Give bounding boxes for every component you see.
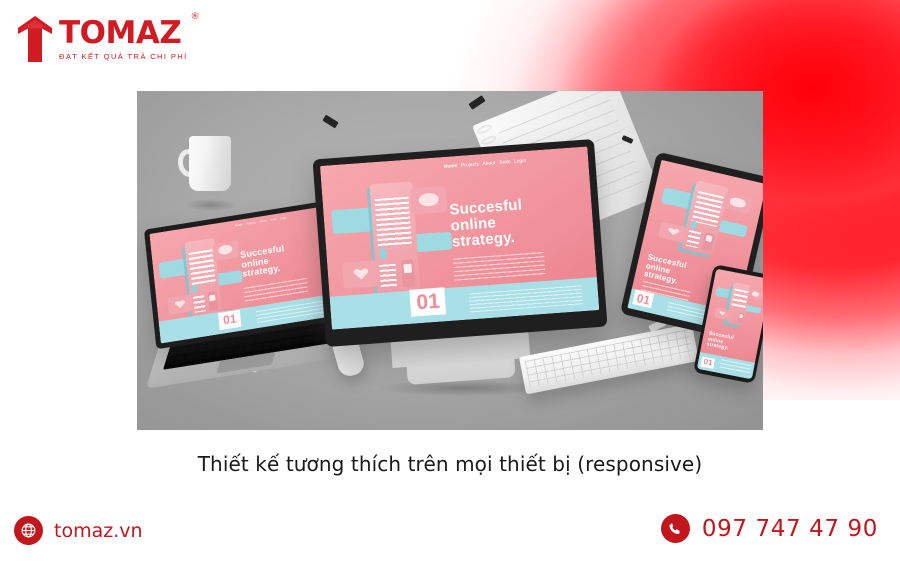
mock-site-paragraph (453, 252, 546, 282)
illustration-text-lines (380, 263, 398, 289)
illustration-text-lines (375, 197, 413, 249)
responsive-devices-photo: Home Projects About Tools Login Succesfu… (137, 91, 763, 430)
mock-website-imac: Home Projects About Tools Login Succesfu… (320, 146, 599, 329)
illustration-image-block (207, 291, 218, 310)
brand-logo-text: TOMAZ ® ĐẠT KẾT QUẢ TRẢ CHI PHÍ (59, 16, 188, 61)
nav-item: Login (514, 157, 527, 164)
illustration-avatar-dot (690, 220, 697, 229)
mock-site-band-text (719, 360, 751, 375)
phone-icon (661, 514, 690, 543)
mug-shadow (185, 199, 237, 211)
illustration-text-lines (732, 288, 749, 308)
illustration-text-lines (193, 295, 206, 313)
coffee-mug (179, 136, 231, 192)
nav-item: Projects (246, 222, 256, 226)
nav-item: About (260, 220, 267, 224)
nav-item: Projects (461, 161, 479, 168)
imac-screen: Home Projects About Tools Login Succesfu… (320, 146, 599, 329)
illustration-comment-badge (723, 192, 753, 214)
globe-icon (14, 516, 43, 545)
illustration-heart-badge (342, 260, 379, 288)
mock-site-headline: Succesful online strategy. (449, 197, 525, 251)
brand-name: TOMAZ (59, 18, 188, 49)
imac-bezel: Home Projects About Tools Login Succesfu… (312, 139, 607, 347)
brand-logo[interactable]: TOMAZ ® ĐẠT KẾT QUẢ TRẢ CHI PHÍ (18, 16, 188, 62)
nav-item: Home (235, 224, 242, 228)
illustration-heart-badge (714, 307, 730, 319)
tomaz-arrow-icon (18, 16, 52, 62)
illustration-text-lines (686, 230, 702, 248)
phone-label[interactable]: 097 747 47 90 (702, 516, 878, 542)
illustration-image-block (737, 313, 744, 324)
illustration-phone-card (682, 181, 729, 256)
illustration-avatar-dot (192, 285, 198, 294)
mock-site-headline: Succesful online strategy. (706, 332, 734, 353)
mug-body (189, 136, 231, 191)
floating-chip (322, 115, 338, 129)
slide-page: TOMAZ ® ĐẠT KẾT QUẢ TRẢ CHI PHÍ (0, 0, 900, 563)
illustration-comment-badge (213, 240, 239, 261)
brand-tagline: ĐẠT KẾT QUẢ TRẢ CHI PHÍ (59, 52, 188, 61)
illustration-heart-badge (167, 294, 193, 315)
nav-item: Home (443, 163, 457, 170)
illustration-image-block (401, 260, 416, 288)
smartphone-device: Succesful online strategy. 01 (703, 269, 763, 379)
mock-site-nav: Home Projects About Tools Login (443, 158, 512, 169)
imac-shadow (379, 380, 547, 396)
illustration-comment-badge (748, 288, 763, 300)
photo-caption: Thiết kế tương thích trên mọi thiết bị (… (0, 452, 900, 476)
mock-site-badge: 01 (410, 288, 447, 317)
nav-item: About (482, 160, 495, 167)
site-illustration (710, 277, 763, 332)
nav-item: Login (280, 217, 287, 221)
nav-item: Tools (499, 159, 511, 166)
mock-site-headline: Succesful online strategy. (240, 244, 287, 280)
floating-chip (468, 95, 485, 110)
website-label[interactable]: tomaz.vn (54, 520, 143, 542)
mock-site-band-text (469, 286, 583, 313)
illustration-comment-badge (410, 186, 447, 214)
illustration-heart-badge (658, 221, 688, 243)
mock-website-phone: Succesful online strategy. 01 (697, 269, 763, 380)
illustration-image-block (702, 232, 715, 250)
imac-device: Home Projects About Tools Login Succesfu… (319, 149, 601, 379)
mock-site-nav: Home Projects About Tools Login (235, 217, 286, 228)
smartphone-body: Succesful online strategy. 01 (693, 264, 763, 384)
illustration-text-lines (188, 249, 215, 286)
illustration-avatar-dot (379, 247, 387, 260)
smartphone-screen: Succesful online strategy. 01 (697, 269, 763, 380)
footer-website[interactable]: tomaz.vn (14, 516, 143, 545)
site-illustration (650, 171, 756, 268)
footer-phone[interactable]: 097 747 47 90 (661, 514, 878, 543)
registered-trademark-icon: ® (191, 13, 200, 22)
nav-item: Tools (270, 218, 276, 222)
headline-line: strategy. (451, 230, 525, 251)
mock-site-badge: 01 (218, 309, 242, 329)
